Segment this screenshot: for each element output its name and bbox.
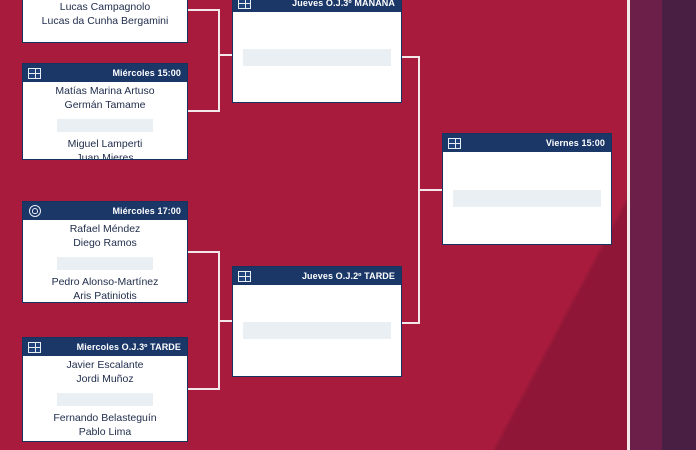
match-card-r1-3[interactable]: Miércoles 17:00 Rafael Méndez Diego Ramo… <box>22 201 188 303</box>
connector-r1-3-horizontal <box>188 251 220 253</box>
match-schedule-label: Miércoles 17:00 <box>112 206 181 216</box>
connector-r1-2-horizontal <box>188 110 220 112</box>
score-placeholder <box>453 190 601 207</box>
background-band-mid <box>630 0 662 450</box>
match-card-r1-1[interactable]: Lucas Campagnolo Lucas da Cunha Bergamin… <box>22 0 188 43</box>
connector-lower-vertical <box>218 251 220 390</box>
match-card-header: Miércoles 17:00 <box>23 202 187 220</box>
match-card-body <box>443 152 611 244</box>
score-placeholder <box>57 393 153 406</box>
connector-final-vertical <box>418 56 420 324</box>
match-card-body <box>233 285 401 376</box>
team-bottom: Miguel Lamperti Juan Mieres <box>68 138 143 160</box>
team-bottom: Pedro Alonso-Martínez Aris Patiniotis <box>52 276 159 303</box>
match-card-r1-2[interactable]: Miércoles 15:00 Matías Marina Artuso Ger… <box>22 63 188 160</box>
background-band-dark <box>662 0 696 450</box>
match-schedule-label: Miércoles 15:00 <box>112 68 181 78</box>
connector-final-to-r3 <box>418 189 444 191</box>
player-name: Diego Ramos <box>70 237 141 251</box>
team-top: Lucas Campagnolo Lucas da Cunha Bergamin… <box>42 1 169 29</box>
connector-r1-4-horizontal <box>188 388 220 390</box>
connector-r2-2-horizontal <box>400 322 420 324</box>
court-icon <box>448 138 461 149</box>
player-name: Pablo Lima <box>53 426 156 440</box>
player-name: Lucas Campagnolo <box>42 1 169 15</box>
score-placeholder <box>57 257 153 270</box>
connector-r2-1-horizontal <box>400 56 420 58</box>
match-card-header: Miercoles O.J.3º TARDE <box>23 338 187 356</box>
connector-upper-vertical <box>218 9 220 112</box>
player-name: Juan Mieres <box>68 152 143 160</box>
player-name: Lucas da Cunha Bergamini <box>42 15 169 29</box>
connector-r1-1-horizontal <box>188 9 220 11</box>
match-card-body <box>233 12 401 102</box>
match-card-r2-2[interactable]: Jueves O.J.2º TARDE <box>232 266 402 377</box>
match-schedule-label: Jueves O.J.3º MAÑANA <box>292 0 395 8</box>
match-card-body: Javier Escalante Jordi Muñoz Fernando Be… <box>23 356 187 442</box>
match-card-r3-1[interactable]: Viernes 15:00 <box>442 133 612 245</box>
match-card-r2-1[interactable]: Jueves O.J.3º MAÑANA <box>232 0 402 103</box>
team-top: Javier Escalante Jordi Muñoz <box>66 359 143 387</box>
match-card-header: Miércoles 15:00 <box>23 64 187 82</box>
team-top: Matías Marina Artuso Germán Tamame <box>55 85 154 113</box>
court-icon <box>238 271 251 282</box>
score-placeholder <box>57 119 153 132</box>
player-name: Aris Patiniotis <box>52 290 159 303</box>
player-name: Jordi Muñoz <box>66 373 143 387</box>
player-name: Pedro Alonso-Martínez <box>52 276 159 290</box>
match-card-r1-4[interactable]: Miercoles O.J.3º TARDE Javier Escalante … <box>22 337 188 442</box>
team-bottom: Fernando Belasteguín Pablo Lima <box>53 412 156 440</box>
shield-icon <box>28 205 41 217</box>
player-name: Javier Escalante <box>66 359 143 373</box>
match-schedule-label: Viernes 15:00 <box>546 138 605 148</box>
player-name: Miguel Lamperti <box>68 138 143 152</box>
match-card-body: Matías Marina Artuso Germán Tamame Migue… <box>23 82 187 160</box>
court-icon <box>28 342 41 353</box>
player-name: Matías Marina Artuso <box>55 85 154 99</box>
court-icon <box>238 0 251 9</box>
match-card-body: Rafael Méndez Diego Ramos Pedro Alonso-M… <box>23 220 187 303</box>
team-top: Rafael Méndez Diego Ramos <box>70 223 141 251</box>
player-name: Rafael Méndez <box>70 223 141 237</box>
player-name: Fernando Belasteguín <box>53 412 156 426</box>
score-placeholder <box>243 322 391 339</box>
tournament-bracket: Lucas Campagnolo Lucas da Cunha Bergamin… <box>0 0 696 450</box>
player-name: Germán Tamame <box>55 99 154 113</box>
match-schedule-label: Jueves O.J.2º TARDE <box>302 271 395 281</box>
match-card-header: Jueves O.J.3º MAÑANA <box>233 0 401 12</box>
score-placeholder <box>243 49 391 66</box>
match-card-body: Lucas Campagnolo Lucas da Cunha Bergamin… <box>23 0 187 42</box>
match-card-header: Viernes 15:00 <box>443 134 611 152</box>
court-icon <box>28 68 41 79</box>
match-schedule-label: Miercoles O.J.3º TARDE <box>77 342 181 352</box>
match-card-header: Jueves O.J.2º TARDE <box>233 267 401 285</box>
